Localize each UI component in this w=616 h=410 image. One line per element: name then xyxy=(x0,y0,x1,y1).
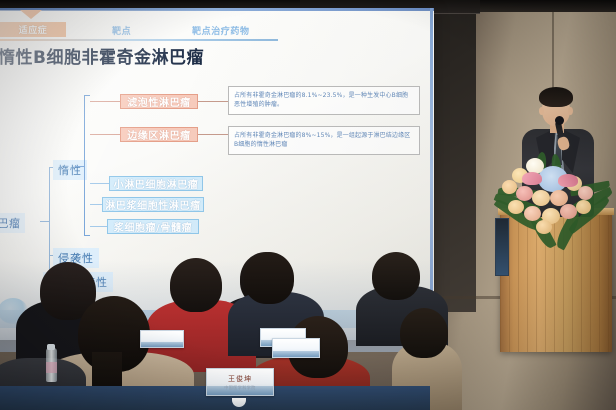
indolent-bracket-tick xyxy=(75,166,84,167)
lead-line-note-2 xyxy=(198,134,228,135)
category-indolent: 惰性 xyxy=(53,160,87,180)
disease-box-lymphoplasmacytic: 淋巴浆细胞性淋巴瘤 xyxy=(102,197,204,212)
flower-arrangement xyxy=(492,150,616,254)
tab-target-drugs-label: 靶点治疗药物 xyxy=(192,24,250,37)
arm-to-box-4 xyxy=(90,204,102,205)
disease-box-follicular: 滤泡性淋巴瘤 xyxy=(120,94,198,109)
namecard-name: 王俊坤 xyxy=(228,374,252,384)
root-tick xyxy=(40,221,49,222)
arm-to-box-5 xyxy=(90,226,107,227)
namecard-far-right xyxy=(272,338,320,358)
speaker-hair xyxy=(539,87,573,107)
disease-box-marginal-zone-label: 边缘区淋巴瘤 xyxy=(127,127,191,142)
lily-bloom xyxy=(522,172,542,185)
tabbar-underline xyxy=(0,39,278,41)
arm-to-box-3 xyxy=(90,183,109,184)
tab-target-drugs[interactable]: 靶点治疗药物 xyxy=(192,23,250,37)
lead-line-note-1 xyxy=(198,101,228,102)
slide-title: 惰性B细胞非霍奇金淋巴瘤 xyxy=(0,43,204,68)
disease-box-marginal-zone: 边缘区淋巴瘤 xyxy=(120,127,198,142)
tab-indications[interactable]: 适应症 xyxy=(0,22,66,37)
disease-box-plasmacytoma-myeloma-label: 浆细胞瘤/骨髓瘤 xyxy=(114,219,192,234)
speaker-ear-right xyxy=(568,107,573,115)
audience-head-5 xyxy=(372,252,420,300)
root-label-lymphoma: 淋巴瘤 xyxy=(0,213,25,233)
audience-head-4 xyxy=(244,252,294,304)
microphone-head xyxy=(555,116,564,125)
disease-box-lymphoplasmacytic-label: 淋巴浆细胞性淋巴瘤 xyxy=(105,197,200,212)
arm-to-box-2 xyxy=(90,134,120,135)
disease-box-small-lymphocytic-label: 小淋巴细胞淋巴瘤 xyxy=(114,176,199,191)
water-bottle-cap xyxy=(47,344,55,350)
tab-indications-label: 适应症 xyxy=(19,23,48,36)
slide-tabbar: 适应症 靶点 靶点治疗药物 xyxy=(0,10,434,38)
note-callout-follicular: 占所有非霍奇金淋巴瘤的8.1%~23.5%，是一种生发中心B细胞恶性增殖的肿瘤。 xyxy=(228,86,420,115)
water-bottle-label xyxy=(46,362,57,373)
audience-head-6 xyxy=(400,308,448,358)
namecard-mid-left xyxy=(140,330,184,348)
caret-down-icon xyxy=(20,10,42,19)
disease-box-plasmacytoma-myeloma: 浆细胞瘤/骨髓瘤 xyxy=(107,219,199,234)
disease-box-follicular-label: 滤泡性淋巴瘤 xyxy=(127,94,191,109)
arm-to-box-1 xyxy=(90,101,120,102)
tab-targets[interactable]: 靶点 xyxy=(112,23,131,37)
namecard-front: 王俊坤 中国医学科学院 xyxy=(206,368,274,396)
note-callout-marginal-zone: 占所有非霍奇金淋巴瘤的8%~15%，是一组起源于淋巴结边缘区B细胞的惰性淋巴瘤 xyxy=(228,126,420,155)
indolent-bracket-cap-bottom xyxy=(84,235,90,236)
wall-dark-column xyxy=(430,12,476,312)
audience-head-3 xyxy=(170,258,222,312)
screenshot-root: 适应症 靶点 靶点治疗药物 惰性B细胞非霍奇金淋巴瘤 淋巴瘤 惰性 侵袭性 高度… xyxy=(0,0,616,410)
speaker-ear-left xyxy=(539,107,544,115)
disease-box-small-lymphocytic: 小淋巴细胞淋巴瘤 xyxy=(109,176,203,191)
tab-targets-label: 靶点 xyxy=(112,24,131,37)
namecard-subtitle: 中国医学科学院 xyxy=(224,385,256,391)
indolent-bracket-spine xyxy=(84,95,85,235)
indolent-bracket-cap-top xyxy=(84,95,90,96)
